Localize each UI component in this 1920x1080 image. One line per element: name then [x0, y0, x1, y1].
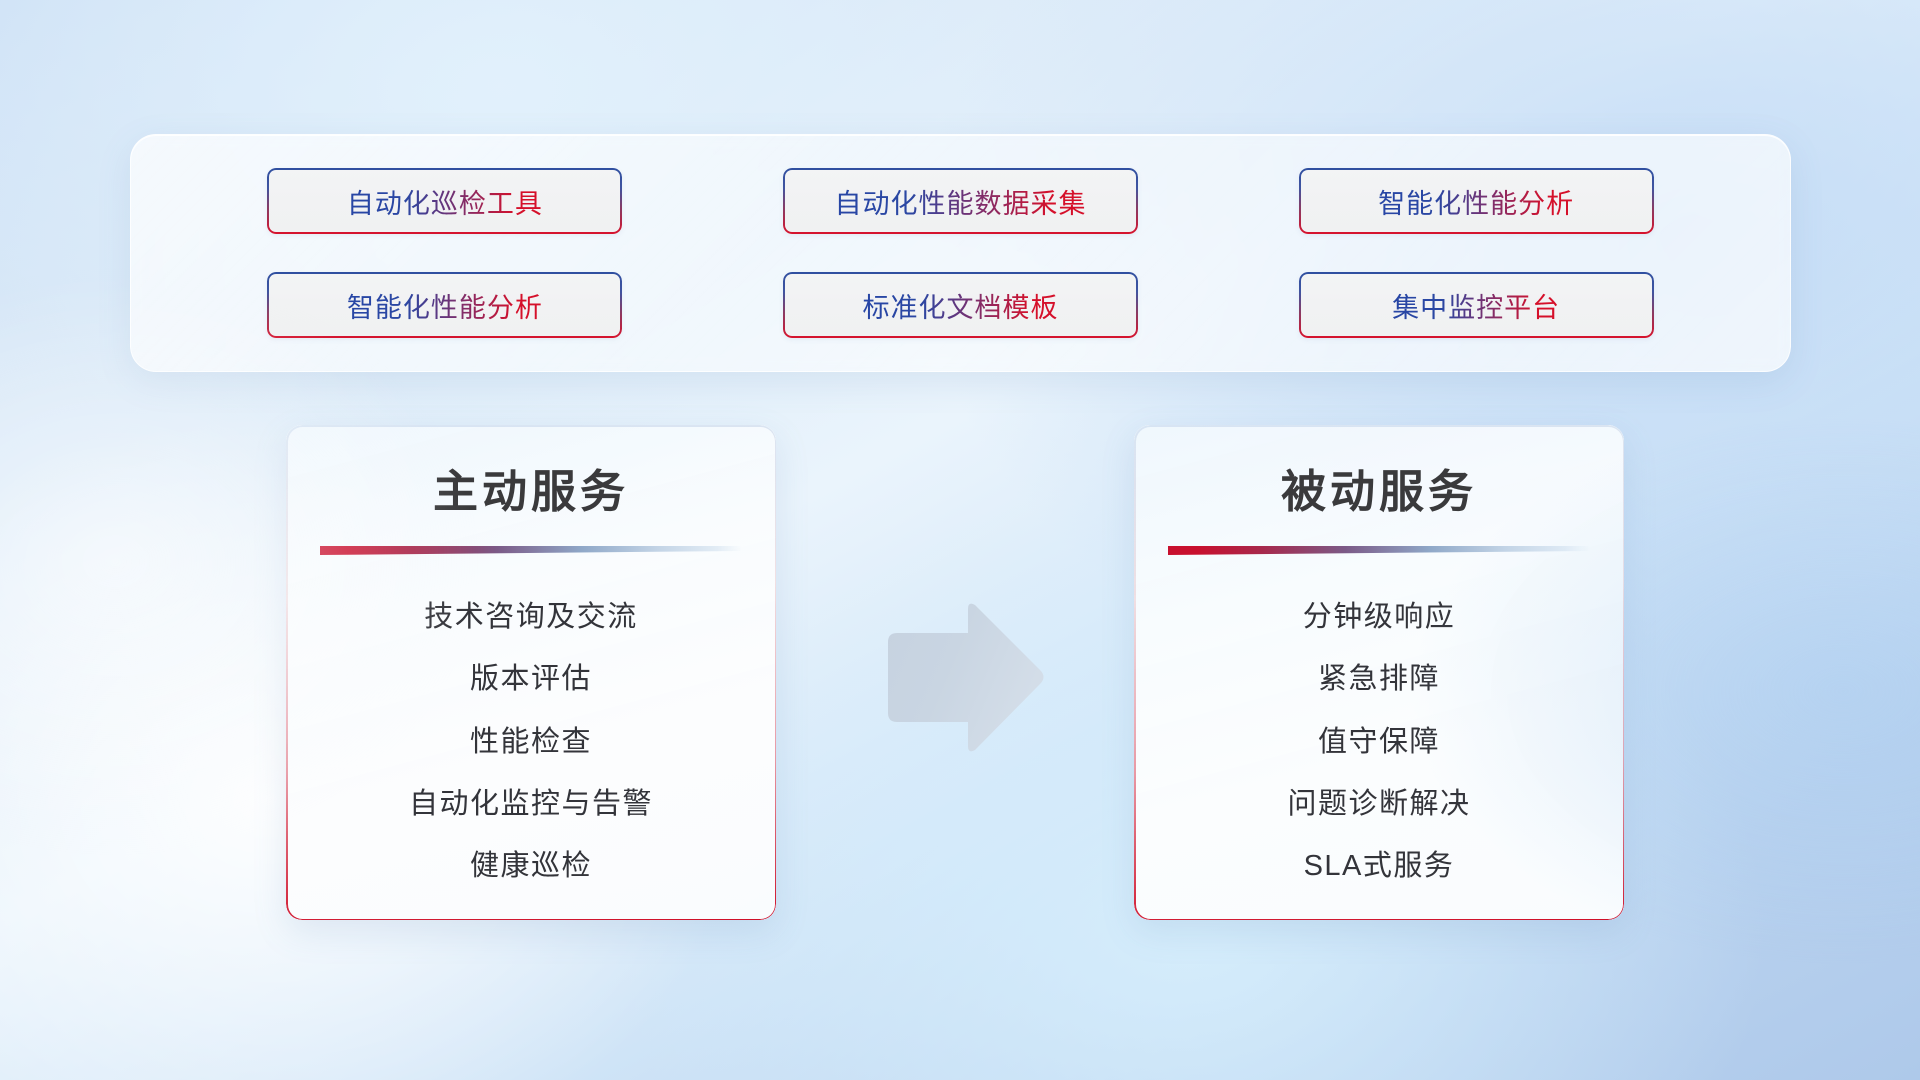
- capability-chip[interactable]: 标准化文档模板: [783, 272, 1138, 338]
- service-item: 分钟级响应: [1303, 599, 1456, 635]
- capability-chip-label: 智能化性能分析: [1378, 182, 1574, 221]
- capability-chip-label: 自动化巡检工具: [347, 182, 543, 221]
- capability-chip-label: 集中监控平台: [1392, 286, 1560, 325]
- title-divider: [1168, 546, 1590, 555]
- service-item: 值守保障: [1318, 724, 1440, 760]
- capability-chip[interactable]: 智能化性能分析: [267, 272, 622, 338]
- service-card-title: 主动服务: [286, 455, 776, 520]
- service-item: SLA式服务: [1304, 848, 1455, 884]
- capability-chip-label: 标准化文档模板: [862, 286, 1058, 325]
- capability-chip-label: 智能化性能分析: [347, 286, 543, 325]
- service-item: 自动化监控与告警: [409, 786, 653, 822]
- service-item-list: 分钟级响应 紧急排障 值守保障 问题诊断解决 SLA式服务: [1134, 599, 1624, 884]
- arrow-right-icon: [880, 600, 1050, 760]
- service-item: 版本评估: [470, 661, 592, 697]
- title-divider: [320, 546, 742, 555]
- capability-chip[interactable]: 集中监控平台: [1299, 272, 1654, 338]
- service-card-active: 主动服务 技术咨询及交流 版本评估 性能检查 自动化监控与告警 健康巡检: [286, 425, 776, 920]
- service-card-passive: 被动服务 分钟级响应 紧急排障 值守保障 问题诊断解决 SLA式服务: [1134, 425, 1624, 920]
- capabilities-panel: 自动化巡检工具 自动化性能数据采集 智能化性能分析 智能化性能分析 标准化文档模…: [130, 134, 1791, 372]
- service-item-list: 技术咨询及交流 版本评估 性能检查 自动化监控与告警 健康巡检: [286, 599, 776, 884]
- service-item: 紧急排障: [1318, 661, 1440, 697]
- service-item: 性能检查: [470, 724, 592, 760]
- service-item: 问题诊断解决: [1287, 786, 1470, 822]
- service-card-title: 被动服务: [1134, 455, 1624, 520]
- service-item: 技术咨询及交流: [424, 599, 638, 635]
- capability-chip-label: 自动化性能数据采集: [834, 182, 1086, 221]
- capability-chip[interactable]: 自动化性能数据采集: [783, 168, 1138, 234]
- capability-chip[interactable]: 自动化巡检工具: [267, 168, 622, 234]
- service-item: 健康巡检: [470, 848, 592, 884]
- capability-chip-grid: 自动化巡检工具 自动化性能数据采集 智能化性能分析 智能化性能分析 标准化文档模…: [131, 135, 1790, 371]
- capability-chip[interactable]: 智能化性能分析: [1299, 168, 1654, 234]
- slide-canvas: 自动化巡检工具 自动化性能数据采集 智能化性能分析 智能化性能分析 标准化文档模…: [0, 0, 1920, 1080]
